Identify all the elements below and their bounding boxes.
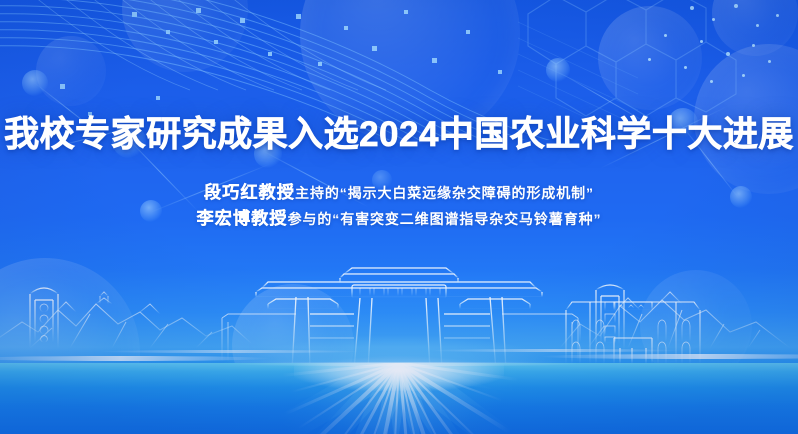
achievement-text: 参与的“有害突变二维图谱指导杂交马铃薯育种” xyxy=(288,211,602,227)
subtitle-line: 李宏博教授参与的“有害突变二维图谱指导杂交马铃薯育种” xyxy=(0,206,798,232)
researcher-name: 段巧红教授 xyxy=(204,183,295,202)
subtitle-block: 段巧红教授主持的“揭示大白菜远缘杂交障碍的形成机制” 李宏博教授参与的“有害突变… xyxy=(0,180,798,232)
banner-graphic: 我校专家研究成果入选2024中国农业科学十大进展 段巧红教授主持的“揭示大白菜远… xyxy=(0,0,798,434)
light-streak xyxy=(230,362,580,366)
title-block: 我校专家研究成果入选2024中国农业科学十大进展 xyxy=(0,116,798,155)
light-streak xyxy=(100,350,360,353)
achievement-text: 主持的“揭示大白菜远缘杂交障碍的形成机制” xyxy=(295,185,594,201)
vanishing-point-glow xyxy=(294,363,504,391)
researcher-name: 李宏博教授 xyxy=(197,209,288,228)
subtitle-line: 段巧红教授主持的“揭示大白菜远缘杂交障碍的形成机制” xyxy=(0,180,798,206)
light-streak xyxy=(430,349,680,352)
page-title: 我校专家研究成果入选2024中国农业科学十大进展 xyxy=(4,116,794,155)
ground-light-rays xyxy=(0,363,798,434)
